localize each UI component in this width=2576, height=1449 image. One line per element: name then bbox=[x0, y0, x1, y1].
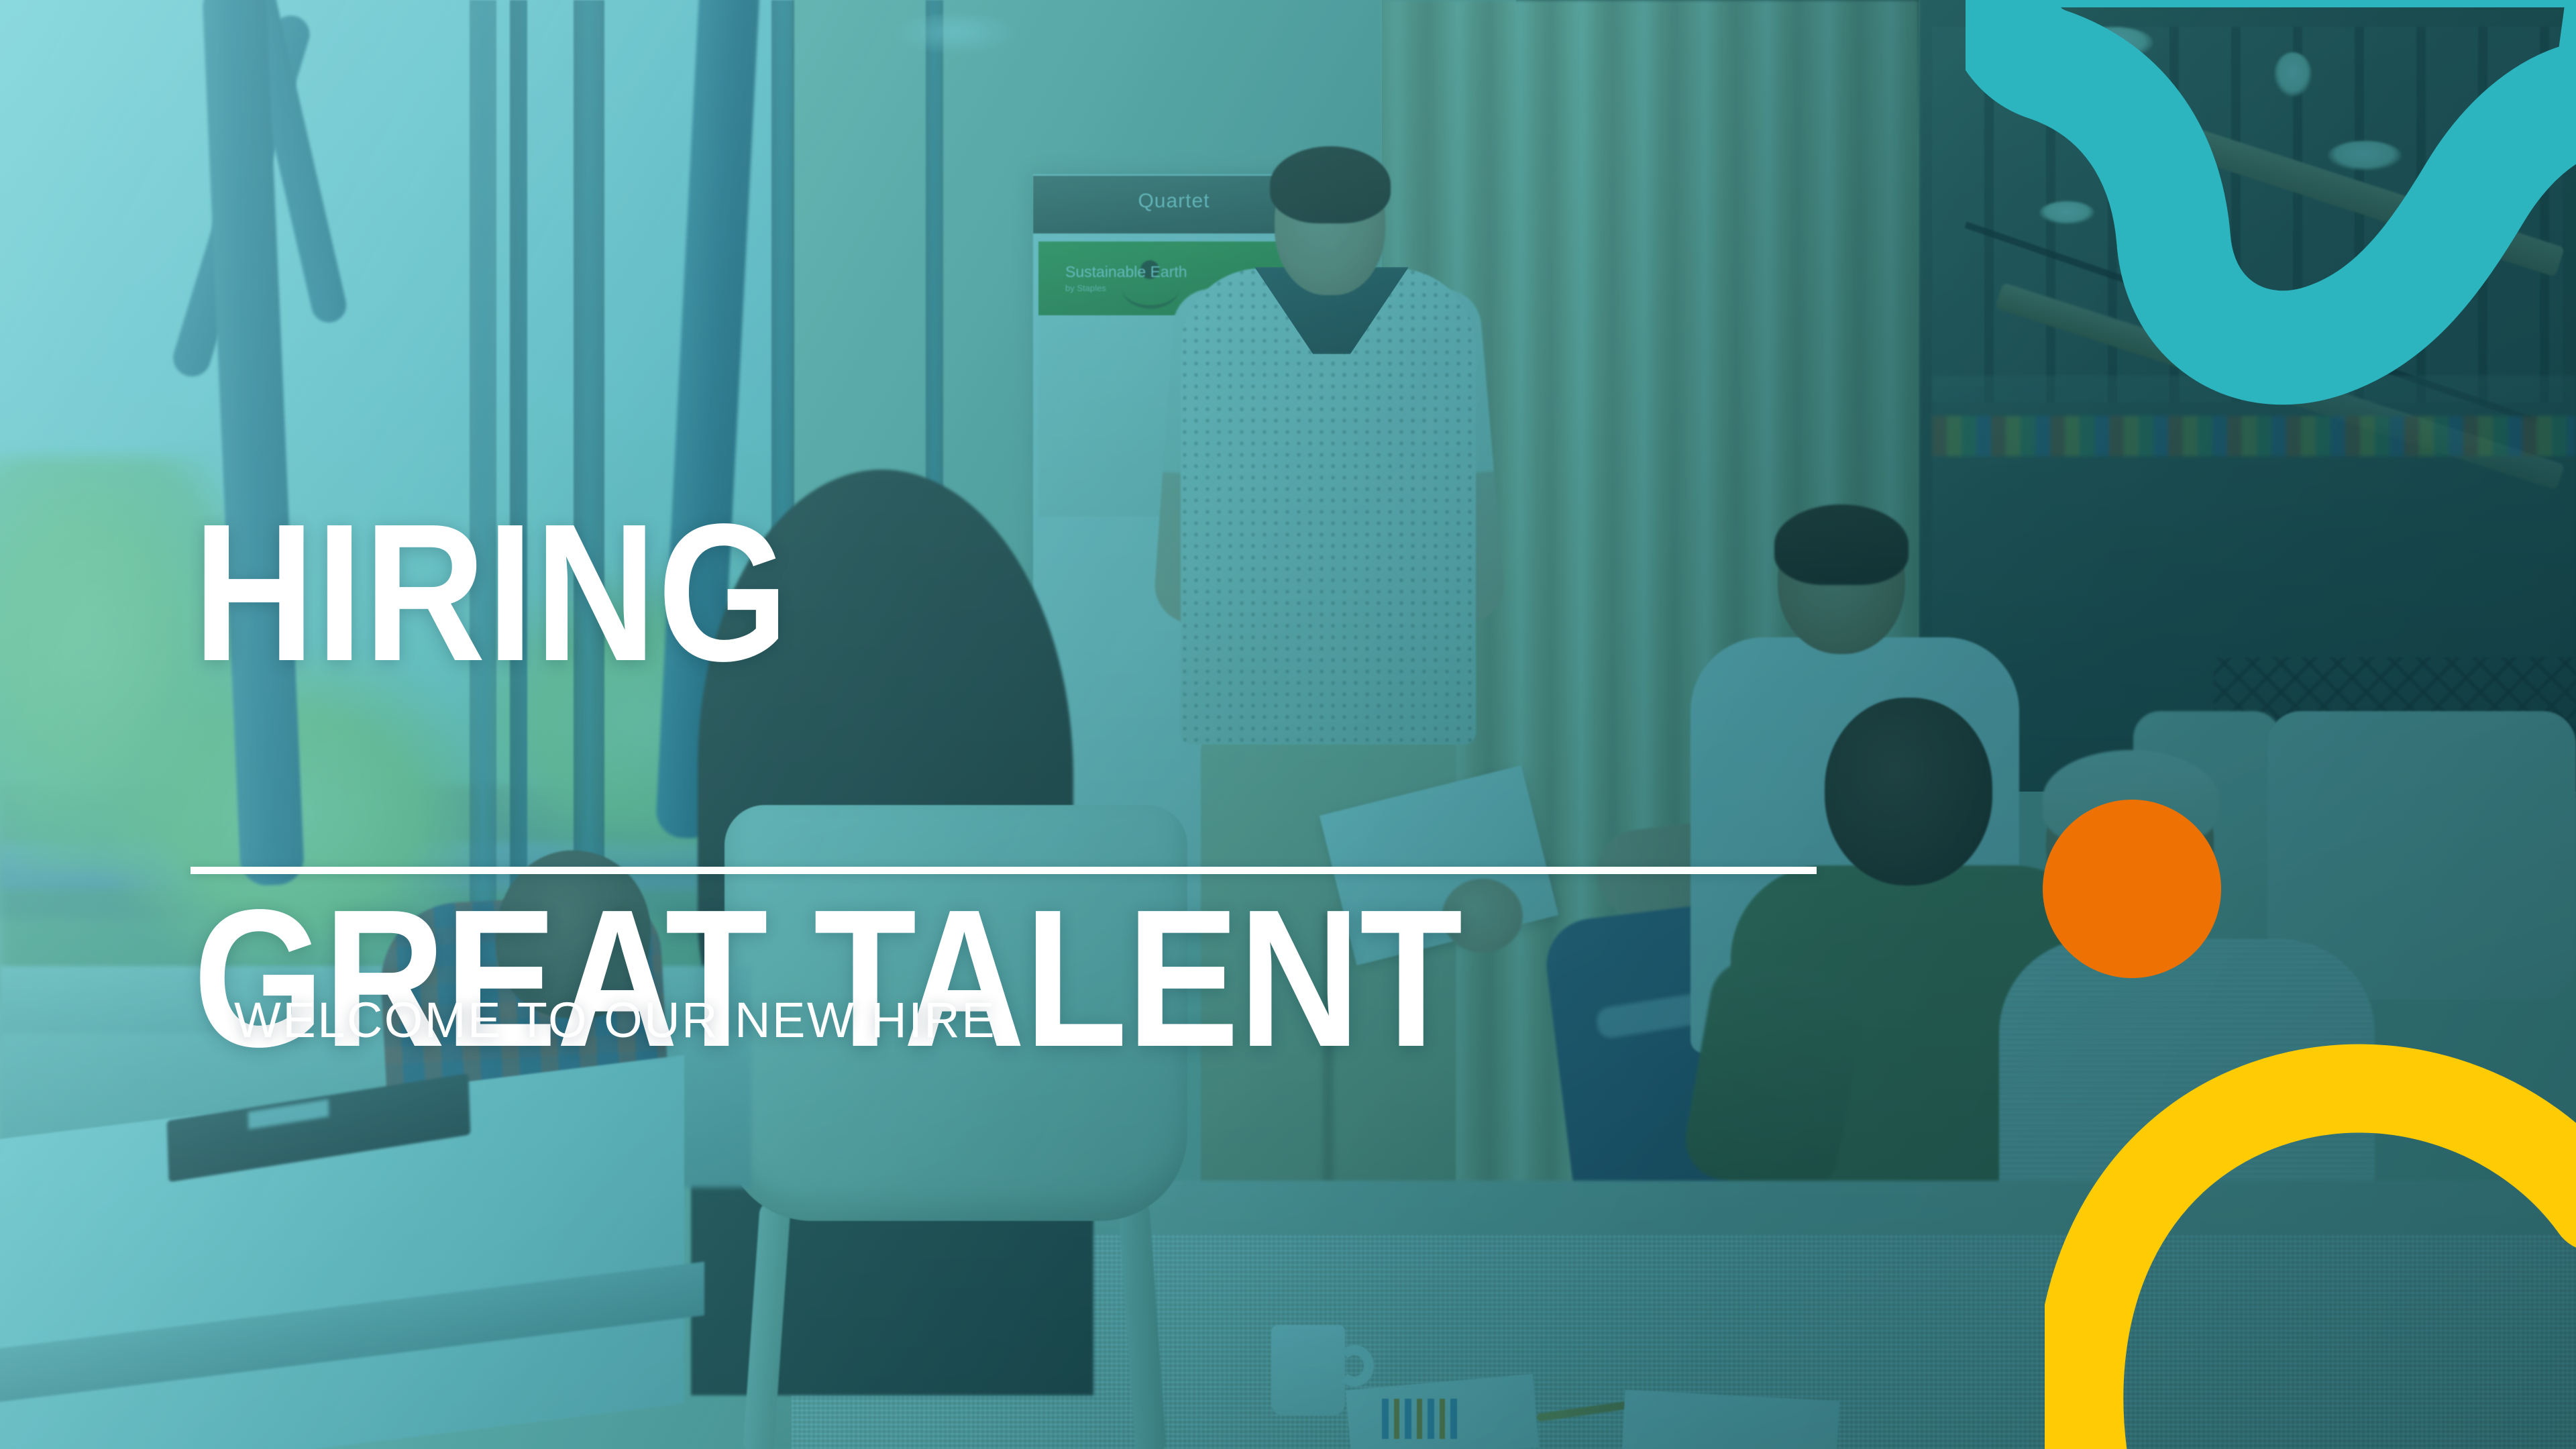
hiring-poster: Quartet Sustainable Earth by Staples bbox=[0, 0, 2576, 1449]
divider-rule bbox=[191, 867, 1817, 874]
poster-content: HIRING GREAT TALENT WELCOME TO OUR NEW H… bbox=[0, 0, 2576, 1449]
subtitle: WELCOME TO OUR NEW HIRE bbox=[234, 991, 996, 1049]
headline-line-1: HIRING bbox=[193, 496, 1462, 690]
page-title: HIRING GREAT TALENT bbox=[193, 303, 1462, 1268]
